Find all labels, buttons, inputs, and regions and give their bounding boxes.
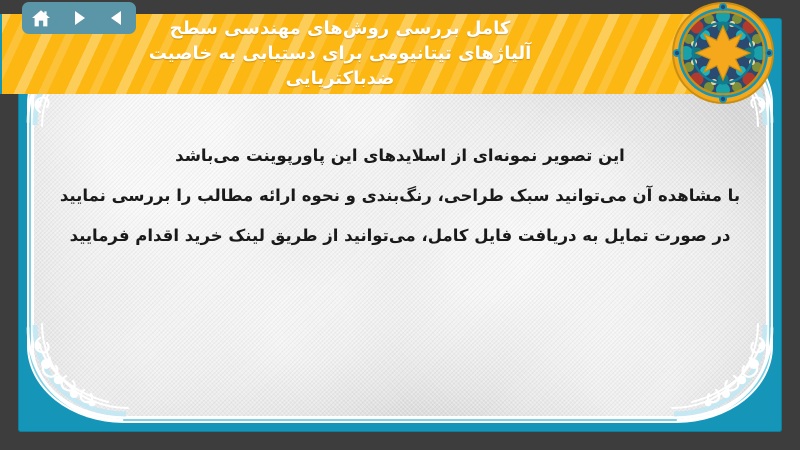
- title-line-1: کامل بررسی روش‌های مهندسی سطح: [149, 16, 532, 41]
- navigation-bar: [22, 2, 136, 34]
- title-line-2: آلیاژهای تیتانیومی برای دستیابی به خاصیت: [149, 41, 532, 66]
- body-line-3: در صورت تمایل به دریافت فایل کامل، می‌تو…: [58, 216, 742, 256]
- title-band-arrow-tail: [0, 14, 2, 94]
- triangle-left-icon: [108, 9, 126, 27]
- triangle-right-icon: [70, 9, 88, 27]
- home-button[interactable]: [26, 4, 56, 32]
- slide-viewer: این تصویر نمونه‌ای از اسلایدهای این پاور…: [0, 0, 800, 450]
- body-line-2: با مشاهده آن می‌توانید سبک طراحی، رنگ‌بن…: [58, 176, 742, 216]
- persian-medallion-ornament: [670, 0, 776, 106]
- next-slide-button[interactable]: [64, 4, 94, 32]
- title-line-3: ضدباکتریایی: [149, 66, 532, 91]
- previous-slide-button[interactable]: [102, 4, 132, 32]
- home-icon: [31, 9, 51, 28]
- slide-body-text: این تصویر نمونه‌ای از اسلایدهای این پاور…: [58, 136, 742, 256]
- body-line-1: این تصویر نمونه‌ای از اسلایدهای این پاور…: [58, 136, 742, 176]
- page-title: کامل بررسی روش‌های مهندسی سطح آلیاژهای ت…: [125, 14, 588, 94]
